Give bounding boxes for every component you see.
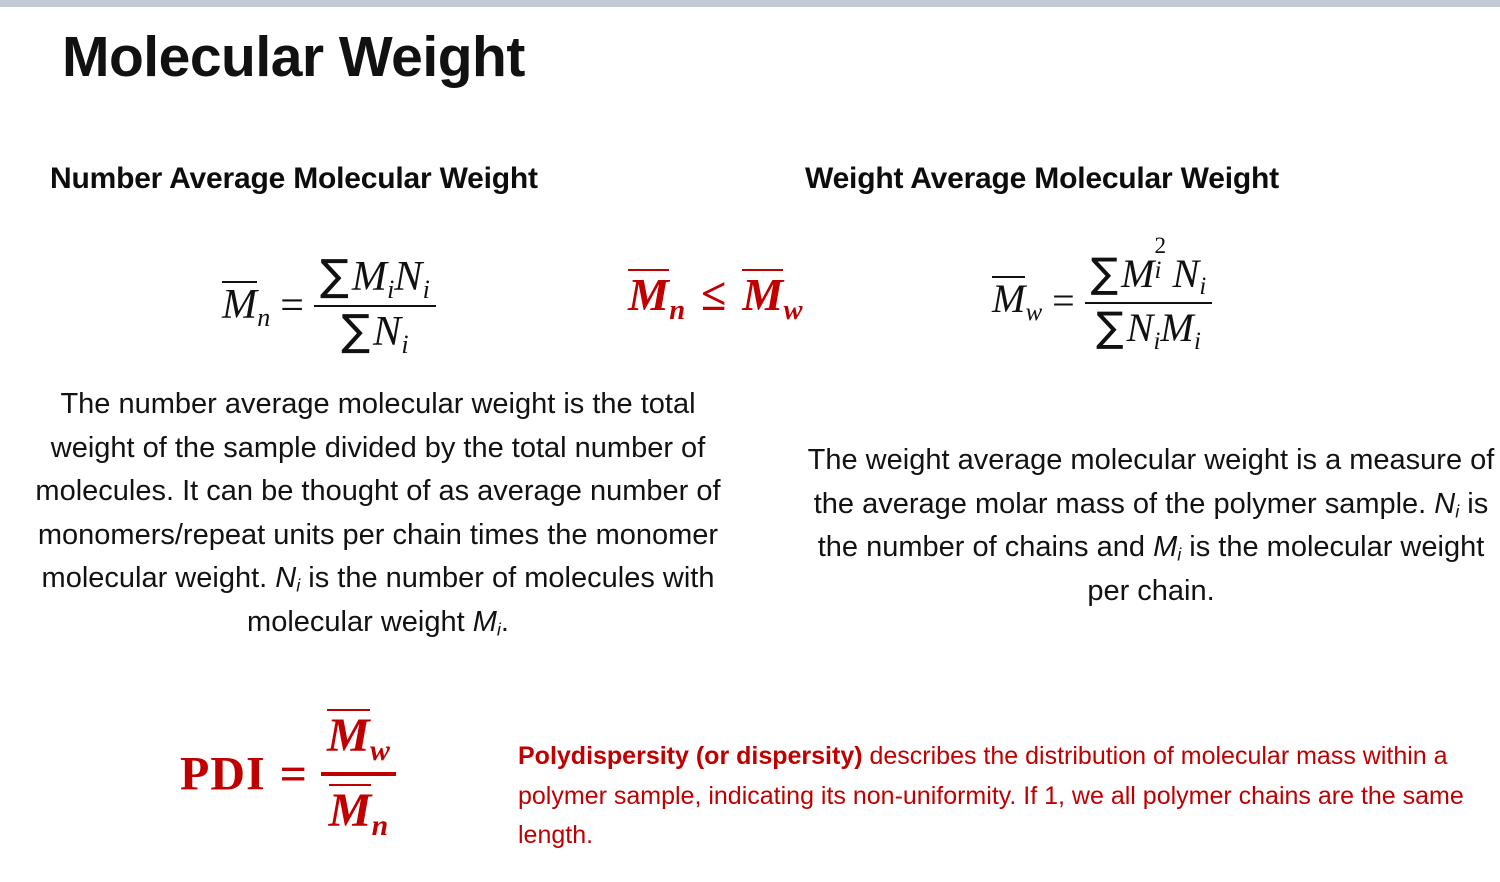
- compare-right-term: Mw: [742, 269, 802, 320]
- equation-mn-lhs: Mn: [222, 282, 270, 328]
- equation-mw-fraction: ∑M2iNi∑NiMi: [1085, 247, 1213, 354]
- slide-canvas: Molecular Weight Number Average Molecula…: [0, 7, 1500, 882]
- top-divider-rule: [0, 0, 1500, 7]
- equation-mw-lhs: Mw: [992, 276, 1042, 321]
- equation-mw-denominator: ∑NiMi: [1085, 302, 1213, 354]
- para-number-part3: .: [501, 606, 509, 638]
- para-number-var-m: M: [473, 606, 497, 638]
- equation-weight-average: Mw=∑M2iNi∑NiMi: [992, 247, 1212, 354]
- equals-sign: =: [1052, 278, 1075, 323]
- heading-number-average: Number Average Molecular Weight: [50, 162, 538, 196]
- equation-pdi-fraction: MwMn: [321, 709, 396, 840]
- equation-mn-numerator: ∑MiNi: [314, 255, 436, 305]
- less-than-or-equal-icon: ≤: [701, 269, 726, 320]
- equals-sign: =: [280, 283, 304, 329]
- equation-mw-numerator: ∑M2iNi: [1085, 247, 1213, 302]
- para-weight-var-m: M: [1153, 531, 1177, 563]
- compare-left-term: Mn: [628, 269, 685, 320]
- equation-pdi-denominator: Mn: [321, 772, 396, 841]
- equation-pdi: PDI=MwMn: [180, 709, 396, 840]
- equation-pdi-numerator: Mw: [321, 709, 396, 772]
- note-polydispersity-term: Polydispersity (or dispersity): [518, 742, 863, 770]
- para-weight-var-n: N: [1434, 488, 1455, 520]
- equation-number-average: Mn=∑MiNi∑Ni: [222, 255, 436, 358]
- paragraph-number-average: The number average molecular weight is t…: [22, 383, 734, 644]
- equation-mn-le-mw: Mn≤Mw: [628, 269, 803, 325]
- equals-sign: =: [280, 748, 307, 801]
- para-weight-part1: The weight average molecular weight is a…: [808, 444, 1495, 520]
- pdi-label: PDI: [180, 748, 266, 801]
- note-polydispersity: Polydispersity (or dispersity) describes…: [518, 737, 1490, 856]
- paragraph-weight-average: The weight average molecular weight is a…: [806, 439, 1496, 613]
- page-title: Molecular Weight: [62, 26, 525, 89]
- heading-weight-average: Weight Average Molecular Weight: [805, 162, 1279, 196]
- para-number-var-n: N: [275, 562, 296, 594]
- equation-mn-denominator: ∑Ni: [314, 305, 436, 358]
- equation-mn-fraction: ∑MiNi∑Ni: [314, 255, 436, 358]
